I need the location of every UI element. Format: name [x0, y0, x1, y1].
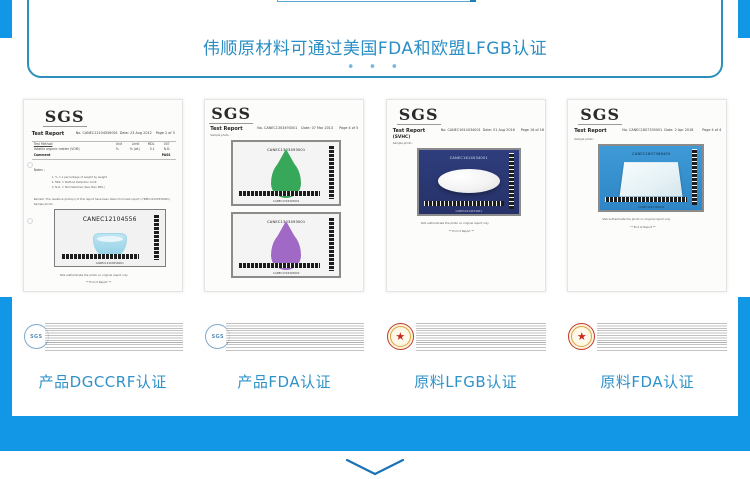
certificate-caption-fda-product: 产品FDA认证 — [194, 371, 376, 392]
report-page: Page 16 of 16 — [521, 128, 544, 132]
table-header-mdl: MDL — [148, 142, 155, 146]
strip-footer-lines — [226, 344, 364, 351]
ruler-horizontal-icon — [61, 254, 139, 259]
table-row-label: Volatile organic matter (VOM) — [34, 147, 80, 151]
report-no: No. CANEC1614034001 — [441, 128, 481, 132]
certificate-strip-fda-material: ★ — [565, 321, 729, 353]
table-header-limit: Limit — [132, 142, 140, 146]
sample-photo-label: Sample photo : — [393, 142, 413, 146]
punch-hole-icon — [27, 218, 33, 224]
sample-photo-caption: CANEC1303493002 — [233, 271, 339, 275]
report-date: Date: 01 Aug 2016 — [483, 128, 515, 132]
sample-photo-caption: CANEC1614034001 — [419, 209, 519, 213]
certificate-caption-dgccrf: 产品DGCCRF认证 — [12, 371, 194, 392]
sample-photo-caption: CANEC12104556001 — [55, 261, 165, 265]
table-cell-mdl: 0.1 — [150, 147, 155, 151]
sample-photo-caption: CANEC1807366405 — [600, 205, 702, 209]
bottom-blue-band — [0, 416, 750, 451]
report-label: Test Report — [574, 128, 606, 134]
certificate-item-dgccrf[interactable]: SGS Test Report No. CANEC12104556001 Dat… — [12, 99, 194, 416]
silicone-sheet-icon — [620, 162, 683, 196]
strip-text-lines — [416, 323, 546, 342]
rail-top-right — [738, 0, 750, 38]
report-label: Test Report — [210, 126, 242, 132]
certificate-scan-fda-material: SGS Test Report No. CANEC1807330001 Date… — [567, 99, 727, 292]
award-seal-icon: ★ — [568, 323, 595, 350]
table-cell-result: N.D. — [164, 147, 171, 151]
strip-footer-lines — [45, 344, 183, 351]
strip-text-lines — [45, 323, 183, 342]
sample-photo-purple: CANEC1303493001 CANEC1303493002 — [231, 212, 341, 278]
star-icon: ★ — [395, 331, 405, 342]
table-cell-unit: % — [116, 147, 119, 151]
header-dots: • • • — [0, 60, 750, 75]
star-icon: ★ — [577, 331, 587, 342]
certificate-item-lfgb-material[interactable]: SGS Test Report (SVHC) No. CANEC16140340… — [375, 99, 557, 416]
sample-photo-sheet: CANEC1807366405 CANEC1807366405 — [598, 144, 704, 212]
strip-text-lines — [226, 323, 364, 342]
report-end-note: ** End of Report ** — [86, 281, 111, 285]
sample-photo-puff: CANEC1614034001 CANEC1614034001 — [417, 148, 521, 216]
report-date: Date: 23 Aug 2012 — [120, 131, 152, 135]
ruler-horizontal-icon — [424, 201, 504, 206]
header-subtitle: 伟顺原材料可通过美国FDA和欧盟LFGB认证 — [0, 34, 750, 59]
page-root: 权威认证 伟顺原材料可通过美国FDA和欧盟LFGB认证 • • • SGS Te… — [0, 0, 750, 479]
sample-code: CANEC1614034001 — [419, 156, 519, 160]
certificate-item-fda-material[interactable]: SGS Test Report No. CANEC1807330001 Date… — [557, 99, 739, 416]
ruler-vertical-icon — [329, 145, 334, 199]
sgs-logo: SGS — [45, 107, 85, 126]
certificate-scan-lfgb: SGS Test Report (SVHC) No. CANEC16140340… — [386, 99, 546, 292]
ruler-horizontal-icon — [238, 263, 320, 268]
scroll-down-chevron-icon[interactable] — [345, 458, 405, 476]
sample-photo-dgccrf: CANEC12104556 CANEC12104556001 — [54, 209, 166, 267]
table-cell-limit: % (wt) — [130, 147, 140, 151]
table-header-result: 007 — [164, 142, 170, 146]
report-end-note: ** End of Report ** — [449, 230, 474, 234]
conclusion-label: Comment — [34, 153, 51, 157]
strip-footer-lines — [416, 344, 546, 351]
powder-puff-icon — [438, 169, 500, 193]
award-seal-icon: ★ — [387, 323, 414, 350]
certificate-item-fda-product[interactable]: SGS Test Report No. CANEC1303493001 Date… — [194, 99, 376, 416]
strip-footer-lines — [597, 344, 727, 351]
sample-code: CANEC1807366405 — [600, 152, 702, 156]
sample-photo-caption: CANEC1303493001 — [233, 199, 339, 203]
report-page: Page 4 of 5 — [339, 126, 358, 130]
photo-auth-note: SGS authenticate the photo on original r… — [602, 218, 670, 222]
table-header-unit: Unit — [116, 142, 122, 146]
sgs-logo: SGS — [580, 105, 620, 124]
sgs-logo: SGS — [399, 105, 439, 124]
sgs-logo: SGS — [211, 104, 251, 123]
certificate-strip-lfgb: ★ — [384, 321, 548, 353]
certificate-caption-lfgb: 原料LFGB认证 — [375, 371, 557, 392]
strip-text-lines — [597, 323, 727, 342]
report-date: Date: 07 Mar 2013 — [301, 126, 333, 130]
punch-hole-icon — [27, 162, 33, 168]
ruler-vertical-icon — [329, 217, 334, 271]
report-page: Page 2 of 3 — [156, 131, 175, 135]
report-date: Date: 2 Apr 2018 — [664, 128, 693, 132]
certificate-caption-fda-material: 原料FDA认证 — [557, 371, 739, 392]
title-corner-nub — [470, 0, 476, 2]
report-page: Page 4 of 4 — [702, 128, 721, 132]
ruler-vertical-icon — [692, 149, 697, 205]
sample-photo-label: Sample photo : — [210, 134, 230, 138]
report-end-note: ** End of Report ** — [630, 226, 655, 230]
ruler-horizontal-icon — [605, 197, 687, 202]
sample-code: CANEC12104556 — [55, 216, 165, 223]
ruler-vertical-icon — [154, 214, 159, 260]
report-label: Test Report — [32, 131, 64, 137]
note-3: 3. N.D. = Not Detected (less than MDL) — [52, 186, 105, 190]
report-remark: Remark: The results & photo(s) of this r… — [34, 198, 170, 202]
ruler-vertical-icon — [509, 153, 514, 209]
report-no: No. CANEC1807330001 — [622, 128, 662, 132]
notes-title: Notes : — [34, 168, 45, 172]
table-header-method: Test Method — [34, 142, 53, 146]
page-title: 权威认证 — [278, 0, 472, 2]
certificate-scan-dgccrf: SGS Test Report No. CANEC12104556001 Dat… — [23, 99, 183, 292]
ruler-horizontal-icon — [238, 191, 320, 196]
certificate-strip-fda-product: SGS — [202, 321, 366, 353]
sample-photo-green: CANEC1303493001 CANEC1303493001 — [231, 140, 341, 206]
conclusion-value: PASS — [162, 153, 171, 157]
report-no: No. CANEC12104556001 — [76, 131, 118, 135]
certificates-card: SGS Test Report No. CANEC12104556001 Dat… — [12, 99, 738, 416]
report-sublabel: (SVHC) — [393, 135, 410, 140]
page-title-frame: 权威认证 — [277, 0, 473, 2]
photo-auth-note: SGS authenticate the photo on original r… — [60, 274, 128, 278]
sample-photo-label: Sample photo : — [34, 203, 54, 207]
certificates-grid: SGS Test Report No. CANEC12104556001 Dat… — [12, 99, 738, 416]
report-no: No. CANEC1303493001 — [257, 126, 297, 130]
certificate-scan-fda-product: SGS Test Report No. CANEC1303493001 Date… — [204, 99, 364, 292]
certificate-strip-dgccrf: SGS — [21, 321, 185, 353]
report-label: Test Report — [393, 128, 425, 134]
rail-bottom-right — [738, 297, 750, 416]
sample-photo-label: Sample photo : — [574, 138, 594, 142]
rail-top-left — [0, 0, 12, 38]
photo-auth-note: SGS authenticate the photo on original r… — [421, 222, 489, 226]
rail-bottom-left — [0, 297, 12, 416]
